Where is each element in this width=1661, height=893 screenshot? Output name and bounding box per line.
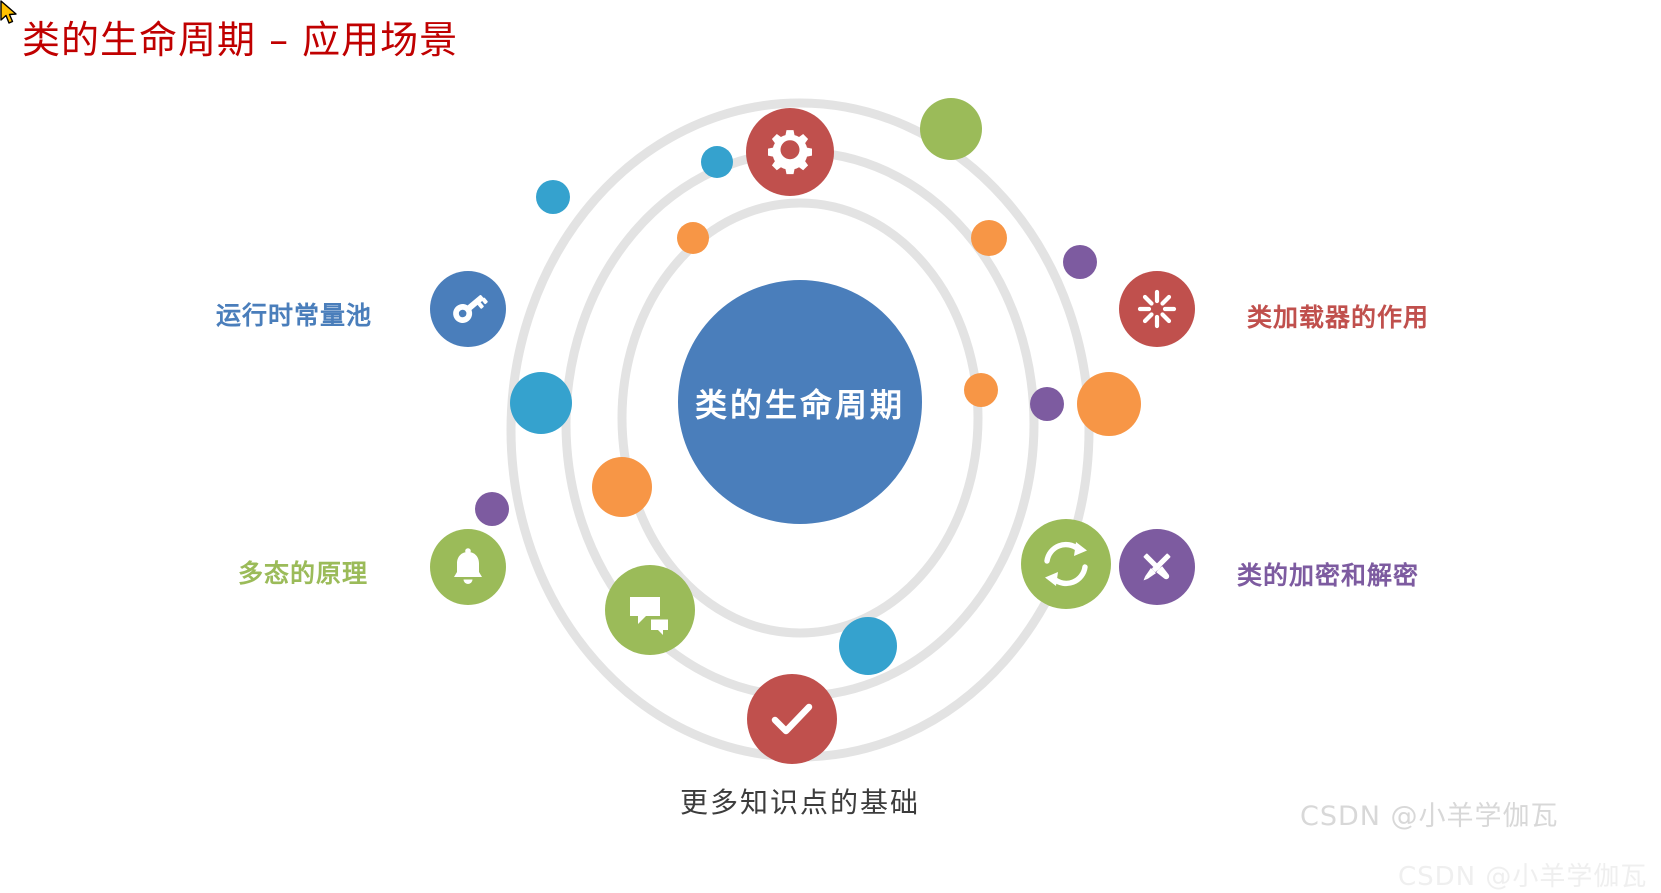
dot-orange-upper-right[interactable] — [971, 220, 1007, 256]
label-polymorphism: 多态的原理 — [238, 554, 368, 590]
center-hub-circle[interactable] — [678, 280, 922, 524]
dot-orange-upper-left[interactable] — [677, 222, 709, 254]
label-classloader: 类加载器的作用 — [1247, 298, 1429, 334]
dot-teal-upper-left[interactable] — [536, 180, 570, 214]
dot-orange-big-right[interactable] — [1077, 372, 1141, 436]
chat-node[interactable] — [605, 565, 695, 655]
dot-teal-mid-left[interactable] — [510, 372, 572, 434]
check-node-circle[interactable] — [747, 674, 837, 764]
check-node[interactable] — [747, 674, 837, 764]
dot-green-upper-right[interactable] — [920, 98, 982, 160]
refresh-node-circle[interactable] — [1021, 519, 1111, 609]
dot-teal-bottom[interactable] — [839, 617, 897, 675]
label-encryption: 类的加密和解密 — [1237, 556, 1419, 592]
dot-teal-top[interactable] — [701, 146, 733, 178]
dot-orange-mid-right[interactable] — [964, 373, 998, 407]
orbit-diagram-svg — [0, 0, 1661, 885]
watermark: CSDN @小羊学伽瓦 — [1300, 794, 1559, 833]
burst-node-circle[interactable] — [1119, 271, 1195, 347]
key-node[interactable] — [430, 271, 506, 347]
gear-node[interactable] — [746, 108, 834, 196]
dot-purple-lower-left[interactable] — [475, 492, 509, 526]
watermark-ghost: CSDN @小羊学伽瓦 — [1398, 856, 1647, 893]
gear-icon — [768, 130, 812, 174]
dot-orange-lower-left[interactable] — [592, 457, 652, 517]
bottom-caption: 更多知识点的基础 — [560, 781, 1040, 821]
burst-node[interactable] — [1119, 271, 1195, 347]
dot-purple-cursor[interactable] — [1063, 245, 1097, 279]
refresh-node[interactable] — [1021, 519, 1111, 609]
orbit-diagram: 类的生命周期 运行时常量池 多态的原理 类加载器的作用 类的加密和解密 更多知识… — [0, 0, 1661, 885]
slide-canvas: 类的生命周期 – 应用场景 — [0, 0, 1661, 885]
label-runtime-constant-pool: 运行时常量池 — [216, 296, 372, 332]
dot-purple-mid-right[interactable] — [1030, 387, 1064, 421]
brush-node[interactable] — [1119, 529, 1195, 605]
bell-node[interactable] — [430, 529, 506, 605]
